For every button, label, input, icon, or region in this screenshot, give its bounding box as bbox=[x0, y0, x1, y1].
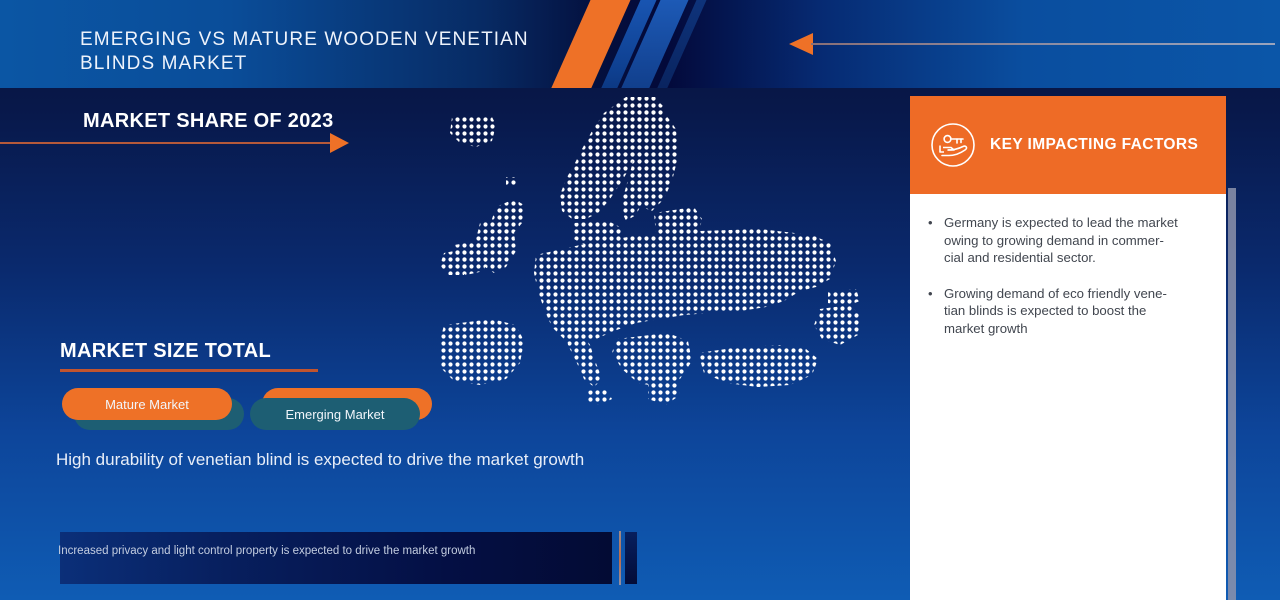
legend-label-emerging: Emerging Market bbox=[286, 407, 385, 422]
key-impacting-factors-card: KEY IMPACTING FACTORS • Germany is expec… bbox=[910, 96, 1226, 600]
arrow-right-icon bbox=[330, 133, 349, 153]
infographic-slide: EMERGING VS MATURE WOODEN VENETIAN BLIND… bbox=[0, 0, 1280, 600]
legend-label-mature: Mature Market bbox=[105, 397, 189, 412]
list-item: • Germany is expected to lead the market… bbox=[928, 214, 1216, 267]
list-item: • Growing demand of eco friendly vene- t… bbox=[928, 285, 1216, 338]
bullet-list: • Germany is expected to lead the market… bbox=[928, 214, 1216, 355]
arrow-left-icon bbox=[789, 33, 813, 55]
market-size-total-label: MARKET SIZE TOTAL bbox=[60, 340, 318, 363]
market-share-arrow-row: MARKET SHARE OF 2023 bbox=[0, 110, 352, 160]
card-shadow bbox=[1228, 188, 1236, 600]
bullet-text: Germany is expected to lead the market o… bbox=[944, 214, 1178, 267]
page-title: EMERGING VS MATURE WOODEN VENETIAN BLIND… bbox=[80, 28, 600, 76]
header-arrow-left bbox=[789, 33, 1275, 55]
bullet-text: Growing demand of eco friendly vene- tia… bbox=[944, 285, 1167, 338]
market-size-total-block: MARKET SIZE TOTAL bbox=[60, 340, 318, 372]
legend: Mature Market Emerging Market bbox=[62, 388, 492, 440]
europe-dot-map bbox=[440, 95, 860, 445]
footer-bar bbox=[60, 532, 612, 584]
market-share-label: MARKET SHARE OF 2023 bbox=[83, 110, 334, 133]
card-title: KEY IMPACTING FACTORS bbox=[990, 136, 1198, 154]
bullet-marker: • bbox=[928, 214, 944, 267]
bullet-marker: • bbox=[928, 285, 944, 338]
title-underline bbox=[60, 369, 318, 372]
card-header: KEY IMPACTING FACTORS bbox=[910, 96, 1226, 194]
footer-bar-tail bbox=[625, 532, 637, 584]
arrow-line bbox=[0, 142, 332, 144]
footer-divider bbox=[619, 531, 621, 585]
legend-pill-emerging[interactable]: Emerging Market bbox=[250, 398, 420, 430]
arrow-line bbox=[811, 43, 1275, 45]
body-text: High durability of venetian blind is exp… bbox=[56, 448, 616, 471]
footer-text: Increased privacy and light control prop… bbox=[58, 545, 588, 557]
legend-pill-mature[interactable]: Mature Market bbox=[62, 388, 232, 420]
hand-holding-key-icon bbox=[930, 122, 976, 168]
map-dot-layer bbox=[440, 97, 860, 405]
